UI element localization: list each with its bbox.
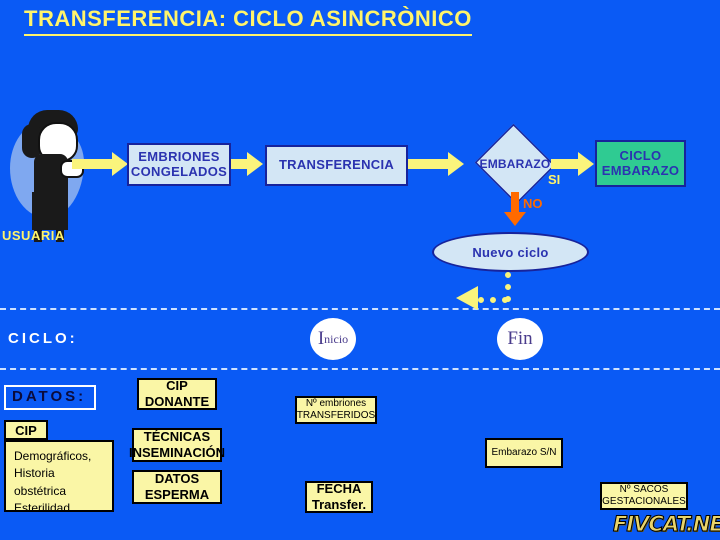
node-ciclo-embarazo[interactable]: CICLO EMBARAZO (595, 140, 686, 187)
arrow-usuaria-to-embriones-head (112, 152, 128, 176)
datos-band-label: DATOS: (4, 385, 96, 410)
label-si: SI (548, 172, 560, 187)
arrow-transferencia-to-embarazo-head (448, 152, 464, 176)
node-embriones-congelados[interactable]: EMBRIONES CONGELADOS (127, 143, 231, 186)
databox-fecha-transfer-line1: FECHA (312, 481, 366, 497)
node-ciclo-embarazo-line2: EMBARAZO (602, 164, 680, 179)
feedback-path-horizontal (478, 297, 508, 303)
databox-embarazo-sn[interactable]: Embarazo S/N (485, 438, 563, 468)
arrow-transferencia-to-embarazo (408, 159, 450, 169)
node-nuevo-ciclo[interactable]: Nuevo ciclo (432, 232, 589, 272)
feedback-path-head (456, 286, 478, 310)
label-no: NO (523, 196, 543, 211)
databox-cip-donante[interactable]: CIP DONANTE (137, 378, 217, 410)
arrow-usuaria-to-embriones (72, 159, 114, 169)
node-embarazo-decision[interactable]: EMBARAZO (474, 126, 556, 202)
milestone-fin[interactable]: Fin (497, 318, 543, 360)
arrow-si (551, 159, 581, 169)
arrow-embriones-to-transferencia-head (247, 152, 263, 176)
band-divider-middle (0, 368, 720, 370)
fivcat-logo: FIVCAT.NET (613, 512, 720, 536)
arrow-si-head (578, 152, 594, 176)
node-ciclo-embarazo-line1: CICLO (602, 149, 680, 164)
databox-num-embriones-transferidos-line1: Nº embriones (297, 398, 375, 410)
databox-num-embriones-transferidos-line2: TRANSFERIDOS (297, 410, 375, 422)
slide-canvas: TRANSFERENCIA: CICLO ASINCRÒNICO USUARIA… (0, 0, 720, 540)
databox-num-embriones-transferidos[interactable]: Nº embriones TRANSFERIDOS (295, 396, 377, 424)
milestone-fin-rest: in (518, 328, 533, 350)
milestone-inicio[interactable]: Inicio (310, 318, 356, 360)
band-divider-top (0, 308, 720, 310)
ciclo-band-label: CICLO: (8, 330, 78, 347)
databox-fecha-transfer-line2: Transfer. (312, 497, 366, 513)
node-embarazo-decision-label: EMBARAZO (480, 157, 551, 171)
node-embriones-congelados-line1: EMBRIONES (129, 150, 229, 165)
usuaria-icon (4, 104, 100, 234)
databox-datos-esperma-line2: ESPERMA (145, 487, 209, 503)
node-embriones-congelados-line2: CONGELADOS (129, 165, 229, 180)
databox-fecha-transfer[interactable]: FECHA Transfer. (305, 481, 373, 513)
databox-num-sacos-gestacionales[interactable]: Nº SACOS GESTACIONALES (600, 482, 688, 510)
usuaria-label: USUARIA (2, 228, 65, 243)
cip-package-body[interactable]: Demográficos, Historia obstétrica Esteri… (4, 440, 114, 512)
node-transferencia[interactable]: TRANSFERENCIA (265, 145, 408, 186)
cip-package-line-1: Demográficos, (14, 448, 104, 465)
arrow-no-head (504, 212, 526, 226)
databox-datos-esperma[interactable]: DATOS ESPERMA (132, 470, 222, 504)
databox-tecnicas-inseminacion-line2: INSEMINACIÓN (129, 445, 225, 461)
page-title: TRANSFERENCIA: CICLO ASINCRÒNICO (24, 6, 472, 36)
databox-num-sacos-gestacionales-line1: Nº SACOS (602, 484, 686, 496)
cip-package-tab[interactable]: CIP (4, 420, 48, 440)
arrow-no (511, 192, 519, 214)
cip-package-line-2: Historia obstétrica (14, 465, 104, 500)
milestone-inicio-rest: nicio (324, 332, 348, 347)
databox-cip-donante-line1: CIP (145, 378, 209, 394)
databox-num-sacos-gestacionales-line2: GESTACIONALES (602, 496, 686, 508)
databox-datos-esperma-line1: DATOS (145, 471, 209, 487)
databox-tecnicas-inseminacion-line1: TÉCNICAS (129, 429, 225, 445)
databox-tecnicas-inseminacion[interactable]: TÉCNICAS INSEMINACIÓN (132, 428, 222, 462)
milestone-fin-initial: F (507, 328, 518, 350)
cip-package-line-3: Esterilidad (14, 500, 104, 517)
databox-cip-donante-line2: DONANTE (145, 394, 209, 410)
